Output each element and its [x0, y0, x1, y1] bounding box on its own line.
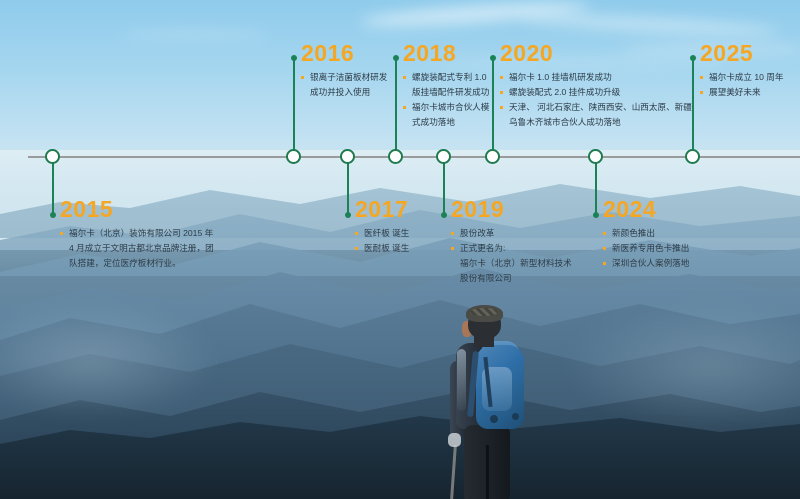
bullet-item: 式成功落地	[403, 116, 489, 129]
timeline-stem-2025	[692, 58, 694, 157]
bullet-item: 新医养专用色卡推出	[603, 242, 689, 255]
timeline-node-2025[interactable]	[685, 149, 700, 164]
bullet-item: 新颜色推出	[603, 227, 689, 240]
bullet-list-2025: 福尔卡成立 10 周年 展望美好未来	[700, 71, 784, 99]
timeline-node-2024[interactable]	[588, 149, 603, 164]
timeline-node-2020[interactable]	[485, 149, 500, 164]
year-label-2024: 2024	[603, 198, 689, 221]
year-label-2015: 2015	[60, 198, 214, 221]
timeline-node-2016[interactable]	[286, 149, 301, 164]
timeline-stem-endpoint-2019	[441, 212, 447, 218]
timeline-entry-2018[interactable]: 2018 螺旋装配式专利 1.0 版挂墙配件研发成功 福尔卡城市合伙人模 式成功…	[403, 42, 489, 131]
year-label-2018: 2018	[403, 42, 489, 65]
bullet-item: 深圳合伙人案例落地	[603, 257, 689, 270]
bullet-item: 螺旋装配式专利 1.0	[403, 71, 489, 84]
timeline-stem-endpoint-2020	[490, 55, 496, 61]
bullet-item: 队搭建，定位医疗板材行业。	[60, 257, 214, 270]
hiker-figure	[420, 305, 550, 499]
timeline-stem-endpoint-2015	[50, 212, 56, 218]
bullet-item: 福尔卡 1.0 挂墙机研发成功	[500, 71, 692, 84]
bullet-item: 正式更名为:	[451, 242, 572, 255]
timeline-stem-endpoint-2017	[345, 212, 351, 218]
year-label-2016: 2016	[301, 42, 387, 65]
bullet-item: 乌鲁木齐城市合伙人成功落地	[500, 116, 692, 129]
year-label-2017: 2017	[355, 198, 409, 221]
bullet-list-2017: 医纤板 诞生 医耐板 诞生	[355, 227, 409, 255]
bullet-item: 医纤板 诞生	[355, 227, 409, 240]
bullet-item: 福尔卡成立 10 周年	[700, 71, 784, 84]
bullet-item: 成功并投入使用	[301, 86, 387, 99]
bullet-item: 螺旋装配式 2.0 挂件成功升级	[500, 86, 692, 99]
timeline-node-2017[interactable]	[340, 149, 355, 164]
timeline-stem-2017	[347, 157, 349, 215]
timeline-entry-2019[interactable]: 2019 股份改革 正式更名为: 福尔卡（北京）新型材料技术 股份有限公司	[451, 198, 572, 287]
bullet-item: 股份有限公司	[451, 272, 572, 285]
timeline-stem-2024	[595, 157, 597, 215]
bullet-list-2018: 螺旋装配式专利 1.0 版挂墙配件研发成功 福尔卡城市合伙人模 式成功落地	[403, 71, 489, 129]
timeline-entry-2016[interactable]: 2016 银离子洁菌板材研发 成功并投入使用	[301, 42, 387, 101]
bullet-item: 福尔卡（北京）装饰有限公司 2015 年	[60, 227, 214, 240]
year-label-2025: 2025	[700, 42, 784, 65]
trekking-pole	[450, 445, 457, 499]
bullet-item: 福尔卡城市合伙人模	[403, 101, 489, 114]
beanie-hat	[466, 305, 503, 322]
timeline-entry-2017[interactable]: 2017 医纤板 诞生 医耐板 诞生	[355, 198, 409, 257]
bullet-item: 4 月成立于文明古都北京品牌注册，团	[60, 242, 214, 255]
bullet-list-2016: 银离子洁菌板材研发 成功并投入使用	[301, 71, 387, 99]
bullet-list-2015: 福尔卡（北京）装饰有限公司 2015 年 4 月成立于文明古都北京品牌注册，团 …	[60, 227, 214, 270]
timeline-stem-2016	[293, 58, 295, 157]
timeline-stem-endpoint-2016	[291, 55, 297, 61]
year-label-2019: 2019	[451, 198, 572, 221]
cloud-wisp	[120, 30, 270, 39]
timeline-entry-2015[interactable]: 2015 福尔卡（北京）装饰有限公司 2015 年 4 月成立于文明古都北京品牌…	[60, 198, 214, 272]
timeline-stem-endpoint-2024	[593, 212, 599, 218]
bullet-item: 福尔卡（北京）新型材料技术	[451, 257, 572, 270]
timeline-stem-2020	[492, 58, 494, 157]
timeline-node-2015[interactable]	[45, 149, 60, 164]
bullet-list-2020: 福尔卡 1.0 挂墙机研发成功 螺旋装配式 2.0 挂件成功升级 天津、 河北石…	[500, 71, 692, 129]
backpack-buckle	[512, 413, 519, 420]
timeline-entry-2024[interactable]: 2024 新颜色推出 新医养专用色卡推出 深圳合伙人案例落地	[603, 198, 689, 272]
bullet-item: 股份改革	[451, 227, 572, 240]
timeline-stem-2015	[52, 157, 54, 215]
timeline-node-2018[interactable]	[388, 149, 403, 164]
year-label-2020: 2020	[500, 42, 692, 65]
timeline-infographic: 2015 福尔卡（北京）装饰有限公司 2015 年 4 月成立于文明古都北京品牌…	[0, 0, 800, 499]
timeline-node-2019[interactable]	[436, 149, 451, 164]
timeline-stem-2019	[443, 157, 445, 215]
timeline-stem-endpoint-2018	[393, 55, 399, 61]
hiker-hand	[448, 433, 461, 447]
bullet-item: 版挂墙配件研发成功	[403, 86, 489, 99]
backpack-buckle	[490, 415, 498, 423]
hiker-rim-light	[457, 349, 466, 411]
bullet-list-2019: 股份改革 正式更名为: 福尔卡（北京）新型材料技术 股份有限公司	[451, 227, 572, 285]
bullet-item: 银离子洁菌板材研发	[301, 71, 387, 84]
timeline-stem-2018	[395, 58, 397, 157]
hiker-leg-gap	[486, 445, 489, 499]
bullet-item: 天津、 河北石家庄、陕西西安、山西太原、新疆	[500, 101, 692, 114]
bullet-item: 医耐板 诞生	[355, 242, 409, 255]
bullet-list-2024: 新颜色推出 新医养专用色卡推出 深圳合伙人案例落地	[603, 227, 689, 270]
timeline-entry-2020[interactable]: 2020 福尔卡 1.0 挂墙机研发成功 螺旋装配式 2.0 挂件成功升级 天津…	[500, 42, 692, 131]
timeline-entry-2025[interactable]: 2025 福尔卡成立 10 周年 展望美好未来	[700, 42, 784, 101]
bullet-item: 展望美好未来	[700, 86, 784, 99]
